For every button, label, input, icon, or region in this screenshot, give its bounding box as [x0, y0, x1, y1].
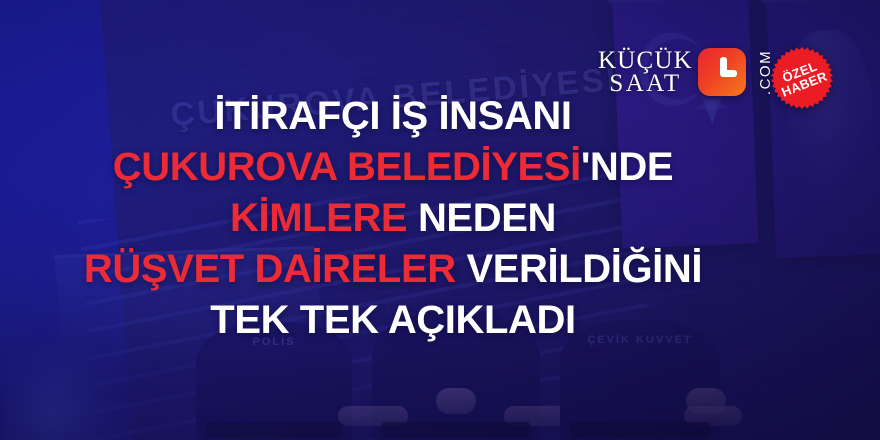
brand-name-line1: KÜÇÜK [598, 49, 693, 72]
brand-logo[interactable]: KÜÇÜK SAAT .COM [598, 48, 788, 96]
headline-segment: KİMLERE [230, 196, 418, 240]
clock-icon [698, 48, 746, 96]
headline-segment: NEDEN [418, 196, 556, 240]
headline-segment: VERİLDİĞİNİ [466, 247, 702, 291]
headline-line-4: RÜŞVET DAİRELER VERİLDİĞİNİ [0, 249, 786, 289]
brand-name-line2: SAAT [609, 72, 681, 95]
headline-segment: TEK TEK AÇIKLADI [210, 298, 575, 342]
news-graphic: ÇUKUROVA BELEDİYESİ POLİS [0, 0, 880, 440]
headline-segment: ÇUKUROVA BELEDİYESİ [113, 145, 581, 189]
ozel-haber-badge[interactable]: ÖZEL HABER [771, 47, 833, 109]
headline-block: İTİRAFÇI İŞ İNSANI ÇUKUROVA BELEDİYESİ'N… [0, 96, 786, 340]
headline-line-5: TEK TEK AÇIKLADI [0, 300, 786, 340]
headline-segment: İTİRAFÇI İŞ İNSANI [214, 94, 571, 138]
headline-line-1: İTİRAFÇI İŞ İNSANI [0, 96, 786, 136]
headline-line-3: KİMLERE NEDEN [0, 198, 786, 238]
brand-wordmark: KÜÇÜK SAAT [598, 49, 693, 95]
headline-segment: 'NDE [581, 145, 673, 189]
starburst-icon [771, 47, 833, 109]
clock-hand-minute [720, 70, 737, 77]
headline-segment: RÜŞVET DAİRELER [84, 247, 467, 291]
headline-line-2: ÇUKUROVA BELEDİYESİ'NDE [0, 147, 786, 187]
